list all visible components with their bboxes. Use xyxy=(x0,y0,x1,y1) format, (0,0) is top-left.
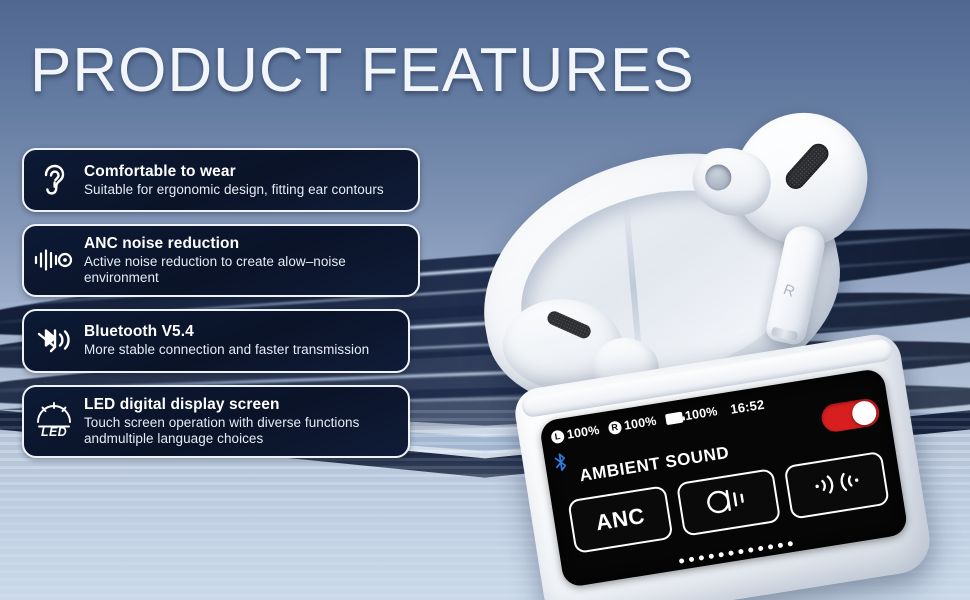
page-dot xyxy=(718,552,724,558)
transparency-button[interactable] xyxy=(676,468,782,537)
feature-card-anc-noise-reduction[interactable]: ANC noise reduction Active noise reducti… xyxy=(22,224,420,297)
feature-title: Bluetooth V5.4 xyxy=(84,323,396,341)
right-bud-battery-value: 100% xyxy=(623,414,658,433)
led-lamp-icon: LED xyxy=(32,400,76,442)
feature-text: Bluetooth V5.4 More stable connection an… xyxy=(84,323,396,358)
feature-description: Active noise reduction to create alow–no… xyxy=(84,254,406,286)
ambient-sound-button[interactable] xyxy=(784,451,890,520)
bluetooth-icon xyxy=(32,320,76,362)
page-dot xyxy=(738,549,744,555)
toggle-knob xyxy=(851,399,878,426)
charging-contact xyxy=(771,327,798,341)
led-icon-text: LED xyxy=(32,425,76,439)
infographic-stage: PRODUCT FEATURES Comfortable to wear Sui… xyxy=(0,0,970,600)
page-dot xyxy=(688,557,694,563)
page-dot xyxy=(678,558,684,564)
right-earbud-stem: R xyxy=(764,223,828,347)
feature-title: Comfortable to wear xyxy=(84,163,406,181)
battery-icon xyxy=(664,411,683,425)
speaker-waves-icon xyxy=(703,483,753,521)
feature-card-bluetooth[interactable]: Bluetooth V5.4 More stable connection an… xyxy=(22,309,410,373)
page-dot xyxy=(698,555,704,561)
case-battery: 100% xyxy=(664,404,718,426)
feature-card-list: Comfortable to wear Suitable for ergonom… xyxy=(22,148,420,470)
page-dot xyxy=(767,544,773,550)
page-dot xyxy=(747,547,753,553)
feature-text: Comfortable to wear Suitable for ergonom… xyxy=(84,163,406,198)
case-battery-value: 100% xyxy=(684,404,719,423)
page-title: PRODUCT FEATURES xyxy=(30,40,695,102)
noise-cancel-icon xyxy=(32,239,76,281)
anc-button[interactable]: ANC xyxy=(567,485,673,554)
feature-card-led-display[interactable]: LED LED digital display screen Touch scr… xyxy=(22,385,410,458)
left-earbud-mic-mesh xyxy=(545,309,593,340)
feature-text: LED digital display screen Touch screen … xyxy=(84,396,396,447)
page-dot xyxy=(777,543,783,549)
bluetooth-icon xyxy=(553,452,569,477)
page-dot xyxy=(728,550,734,556)
right-bud-badge: R xyxy=(607,420,622,435)
left-bud-battery: L 100% xyxy=(550,423,600,444)
page-dot xyxy=(757,546,763,552)
left-bud-battery-value: 100% xyxy=(566,423,601,442)
product-photo: R L 100% R 100% 100% xyxy=(450,110,970,600)
anc-button-label: ANC xyxy=(594,503,647,536)
page-dot xyxy=(708,553,714,559)
page-dot xyxy=(787,541,793,547)
left-bud-badge: L xyxy=(550,429,565,444)
feature-title: LED digital display screen xyxy=(84,396,396,414)
feature-description: Touch screen operation with diverse func… xyxy=(84,415,396,447)
feature-description: Suitable for ergonomic design, fitting e… xyxy=(84,182,406,198)
feature-description: More stable connection and faster transm… xyxy=(84,342,396,358)
feature-text: ANC noise reduction Active noise reducti… xyxy=(84,235,406,286)
right-channel-marking: R xyxy=(781,281,797,301)
ear-icon xyxy=(32,159,76,201)
feature-card-comfortable-to-wear[interactable]: Comfortable to wear Suitable for ergonom… xyxy=(22,148,420,212)
right-bud-battery: R 100% xyxy=(607,414,657,435)
screen-clock: 16:52 xyxy=(729,396,765,416)
ambient-waves-icon xyxy=(809,466,865,505)
feature-title: ANC noise reduction xyxy=(84,235,406,253)
